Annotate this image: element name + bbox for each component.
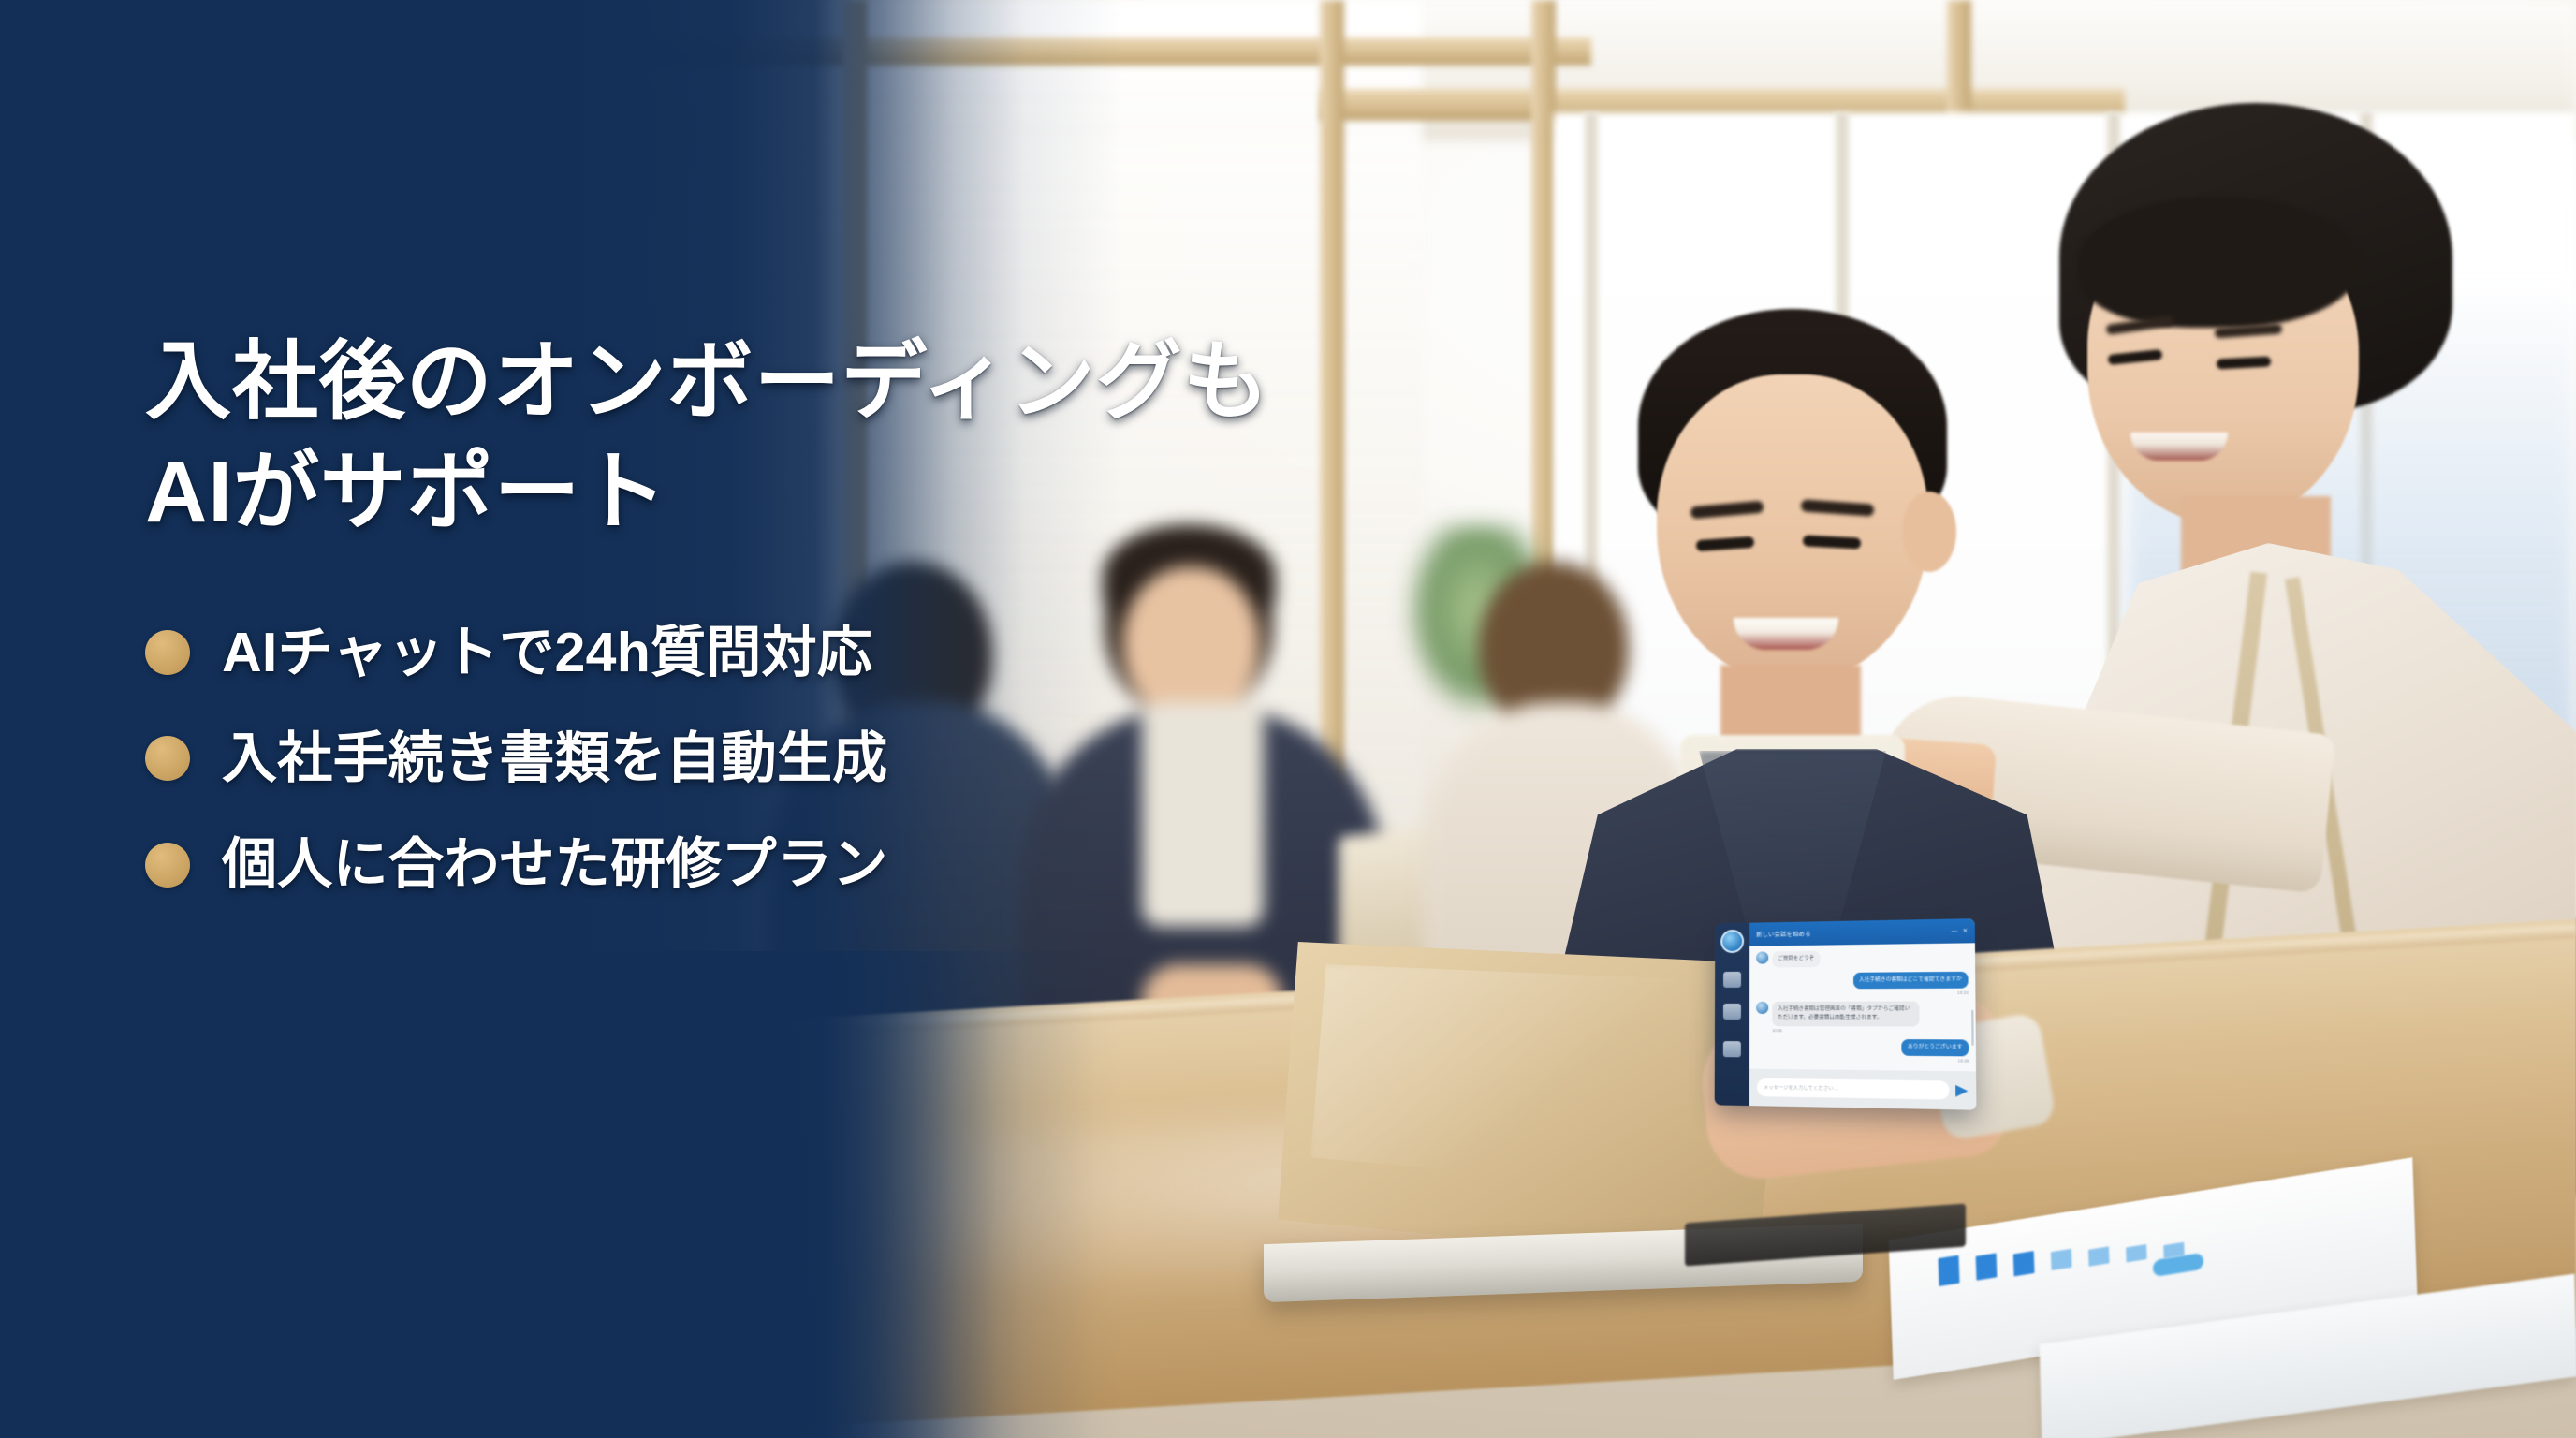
ai-chat-window[interactable]: 新しい会話を始める — ✕ ご質問をどうぞ 入社手続きの書類はどこで確認できます…	[1715, 918, 1977, 1110]
send-icon[interactable]	[1955, 1084, 1968, 1096]
list-item: AIチャットで24h質問対応	[145, 622, 1362, 684]
chat-input[interactable]: メッセージを入力してください…	[1757, 1078, 1950, 1100]
bot-avatar	[1756, 1002, 1768, 1014]
chat-timestamp: 10:26	[1901, 1057, 1969, 1063]
chat-timestamp: 10:25	[1772, 1028, 1919, 1034]
document-icon[interactable]	[1723, 1041, 1741, 1057]
chat-bubble-text: ありがとうございます	[1901, 1039, 1969, 1056]
chat-message-bot: 入社手続き書類は管理画面の「書類」タブからご確認いただけます。必要書類は自動生成…	[1756, 1001, 1969, 1034]
page-title: 入社後のオンボーディングも AIがサポート	[145, 328, 1362, 549]
list-item: 入社手続き書類を自動生成	[145, 727, 1362, 790]
chat-bubble-text: 入社手続きの書類はどこで確認できますか	[1853, 972, 1969, 989]
chat-bubble-text: ご質問をどうぞ	[1772, 951, 1820, 968]
bullet-label: 入社手続き書類を自動生成	[222, 727, 888, 790]
chat-message-user: 入社手続きの書類はどこで確認できますか 10:24	[1756, 972, 1969, 996]
chat-scrollbar[interactable]	[1971, 1010, 1974, 1046]
chat-header: 新しい会話を始める — ✕	[1749, 918, 1975, 946]
chat-input-bar: メッセージを入力してください…	[1749, 1069, 1977, 1110]
dashboard-icon[interactable]	[1723, 972, 1741, 988]
hero-banner: 新しい会話を始める — ✕ ご質問をどうぞ 入社手続きの書類はどこで確認できます…	[0, 0, 2576, 1438]
navy-gradient-overlay-bottom	[0, 951, 1404, 1438]
minimize-icon[interactable]: —	[1952, 928, 1958, 933]
headline-line-2: AIがサポート	[145, 438, 1362, 549]
chat-message-list[interactable]: ご質問をどうぞ 入社手続きの書類はどこで確認できますか 10:24 入社手続き書…	[1749, 943, 1976, 1071]
bot-avatar	[1756, 951, 1768, 963]
bullet-label: AIチャットで24h質問対応	[222, 622, 872, 684]
chat-timestamp: 10:24	[1853, 990, 1969, 996]
feature-bullet-list: AIチャットで24h質問対応 入社手続き書類を自動生成 個人に合わせた研修プラン	[145, 622, 1362, 897]
bullet-dot-icon	[145, 630, 190, 675]
chat-sidebar	[1715, 923, 1749, 1106]
bullet-label: 個人に合わせた研修プラン	[222, 833, 888, 896]
chat-message-user: ありがとうございます 10:26	[1756, 1038, 1969, 1063]
app-logo-icon	[1720, 930, 1744, 953]
chat-title: 新しい会話を始める	[1756, 927, 1946, 939]
chat-message-bot: ご質問をどうぞ	[1756, 949, 1968, 968]
bullet-dot-icon	[145, 736, 190, 781]
bullet-dot-icon	[145, 843, 190, 888]
headline-line-1: 入社後のオンボーディングも	[145, 328, 1362, 438]
chat-icon[interactable]	[1723, 1004, 1741, 1020]
chat-bubble-text: 入社手続き書類は管理画面の「書類」タブからご確認いただけます。必要書類は自動生成…	[1772, 1001, 1919, 1026]
chat-main-panel: 新しい会話を始める — ✕ ご質問をどうぞ 入社手続きの書類はどこで確認できます…	[1749, 918, 1977, 1110]
hero-text-block: 入社後のオンボーディングも AIがサポート AIチャットで24h質問対応 入社手…	[145, 328, 1362, 939]
close-icon[interactable]: ✕	[1963, 928, 1969, 934]
list-item: 個人に合わせた研修プラン	[145, 833, 1362, 896]
